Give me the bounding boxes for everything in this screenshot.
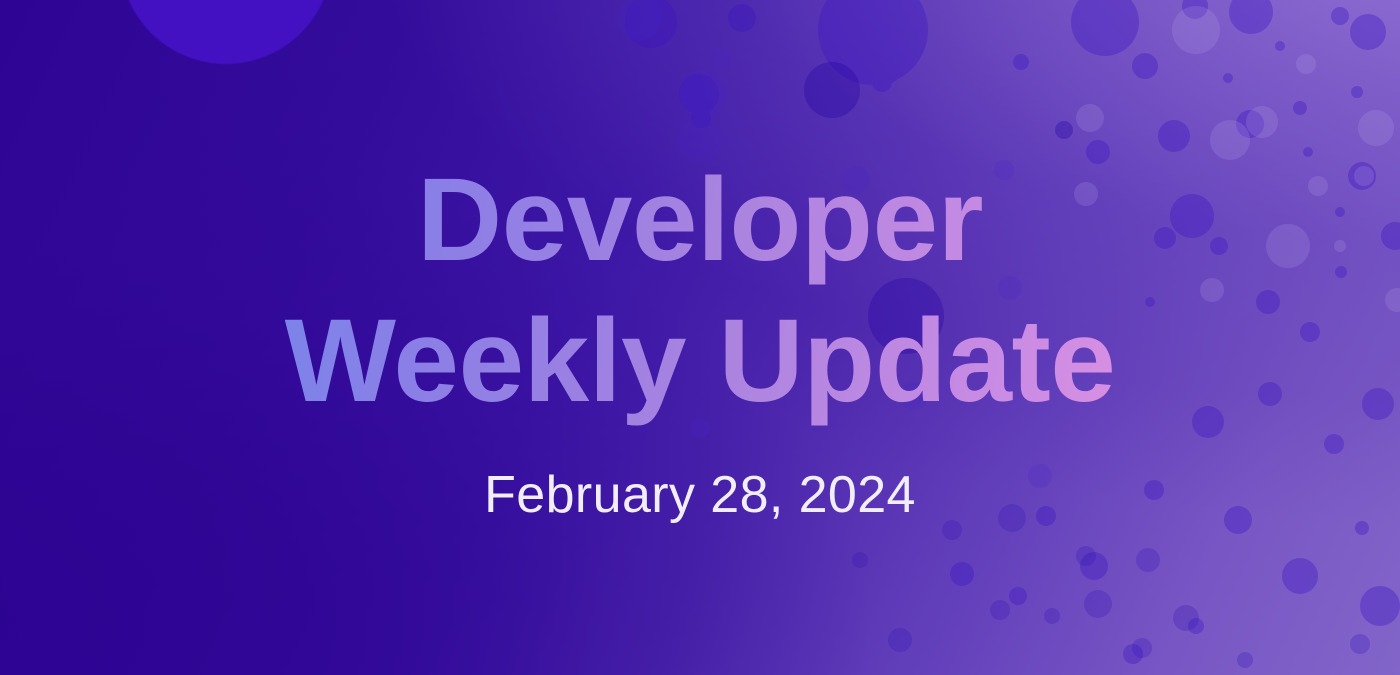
- slide-date: February 28, 2024: [484, 465, 916, 525]
- page-title: Developer Weekly Update: [285, 150, 1116, 435]
- title-slide: Developer Weekly Update February 28, 202…: [0, 0, 1400, 675]
- slide-content: Developer Weekly Update February 28, 202…: [0, 0, 1400, 675]
- title-line-1: Developer: [285, 150, 1116, 290]
- title-line-2: Weekly Update: [285, 291, 1116, 431]
